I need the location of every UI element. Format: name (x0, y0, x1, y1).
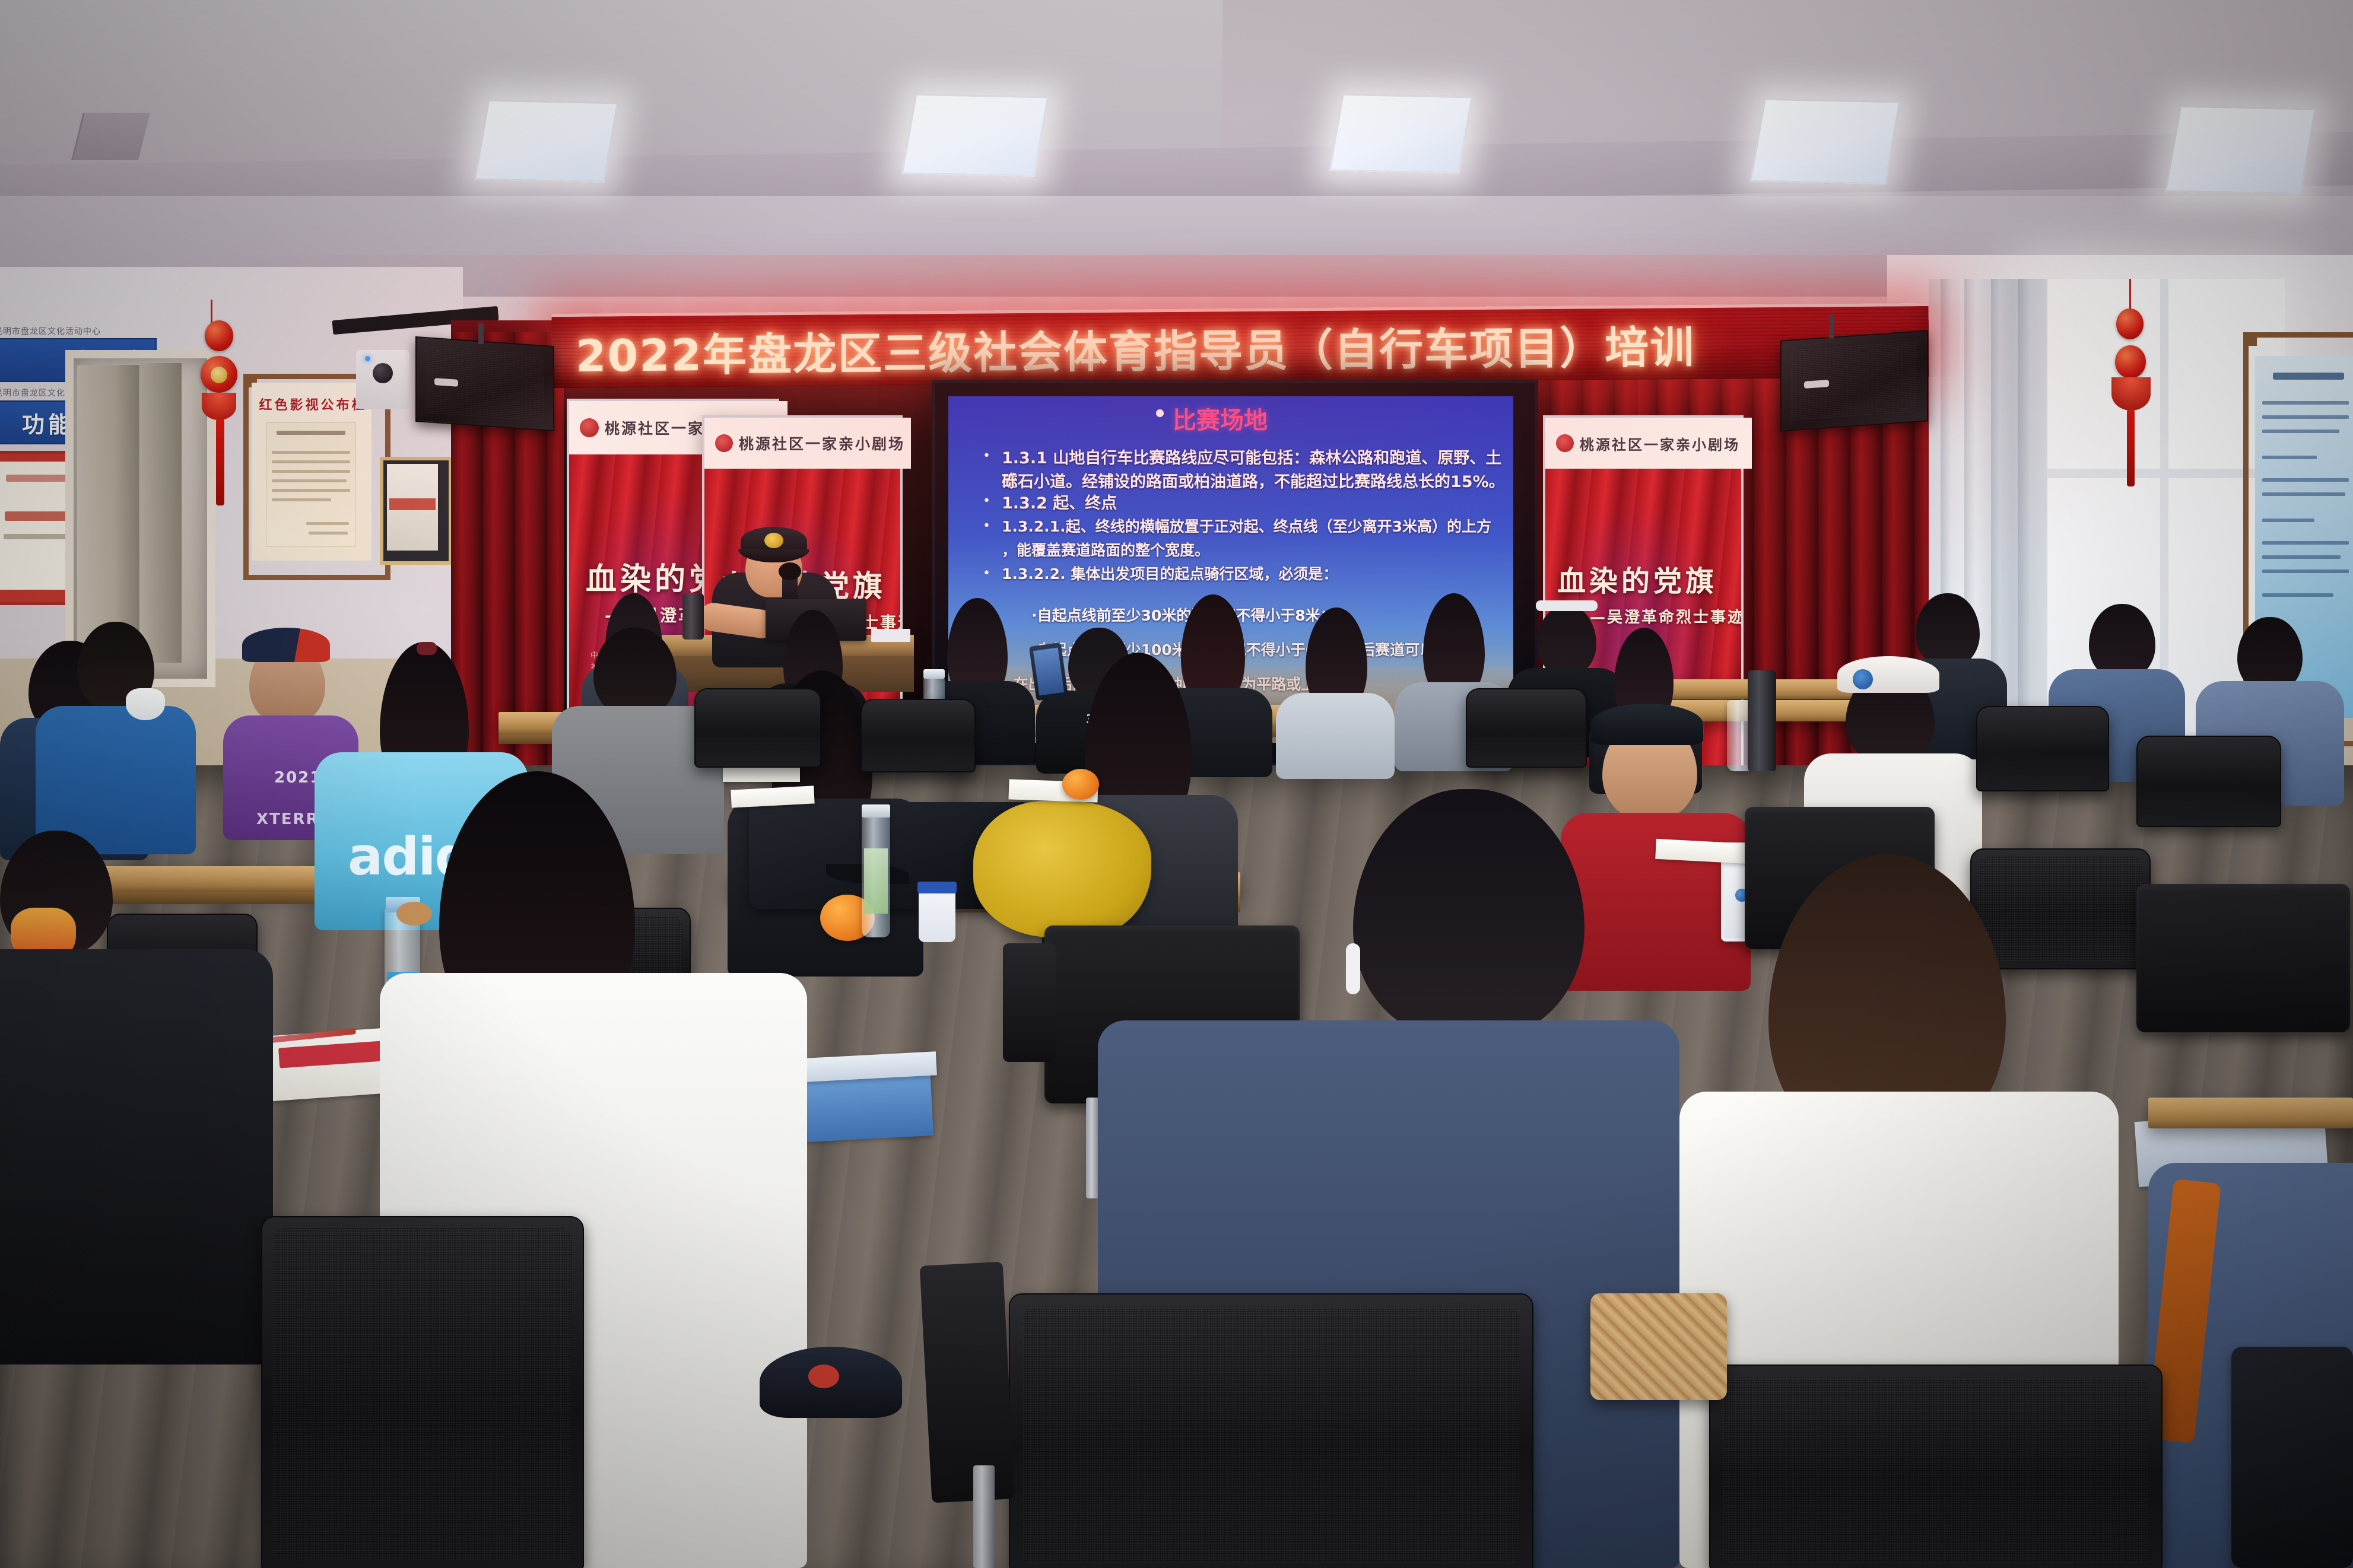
right-poster-line (2262, 519, 2314, 522)
rollup-logo-icon (1556, 434, 1574, 452)
attendee-head (2089, 604, 2155, 679)
ceiling-light-5 (2165, 106, 2317, 195)
slide-line-4: 1.3.2.1.起、终线的横幅放置于正对起、终点线（至少离开3米高）的上方 (1002, 515, 1491, 536)
attendee-white-cap-icon (1837, 656, 1939, 693)
slide-bullet-icon: • (983, 519, 990, 533)
ceiling-light-4 (1749, 98, 1901, 185)
slide-line-5: ，能覆盖赛道路面的整个宽度。 (1002, 539, 1209, 560)
slide-bullet-icon: • (983, 566, 990, 581)
rollup-banner-3-header-bar: 桃源社区一家亲小剧场 (1545, 418, 1752, 469)
left-poster-notice-heading (277, 431, 345, 435)
ceiling-light-1 (474, 100, 618, 183)
left-poster-title: 红色影视公布栏 (255, 395, 371, 414)
slide-title-bullet (1156, 409, 1164, 417)
slide-bullet-icon: • (983, 449, 990, 463)
right-poster-line (2262, 401, 2349, 405)
chair[interactable] (1976, 706, 2109, 791)
chair[interactable] (1466, 688, 1587, 768)
chair-foreground[interactable] (261, 1216, 584, 1568)
speaker-left-mount (478, 323, 484, 344)
bag-foreground (2231, 1347, 2353, 1568)
basket (1590, 1293, 1727, 1400)
left-poster-notice-line (272, 479, 347, 482)
led-banner-text: 2022年盘龙区三级社会体育指导员（自行车项目）培训 (552, 311, 1695, 384)
wall-camera-lens (373, 363, 393, 383)
ceiling-slot (71, 113, 150, 160)
slide-title: 比赛场地 (1173, 401, 1268, 435)
speaker-grill (1790, 341, 1917, 421)
rollup-banner-3-subtitle: ——吴澄革命烈士事迹传 (1573, 605, 1741, 627)
speaker-right (1780, 330, 1928, 431)
chair[interactable] (694, 688, 821, 768)
left-poster-notice-sign (306, 522, 349, 525)
chair-leather[interactable] (2136, 884, 2350, 1032)
left-poster-notice-line (272, 451, 350, 454)
training-room-sign-sub: 昆明市盘龙区文化活动中心 (0, 325, 131, 337)
left-poster-notice-date (309, 532, 348, 535)
right-poster-line (2262, 570, 2349, 573)
rollup-logo-icon (580, 418, 599, 437)
attendee-torso-foreground (0, 949, 273, 1365)
right-poster-line (2262, 478, 2349, 482)
table-foreground-right (2148, 1098, 2353, 1128)
window-knot-tassel (2127, 409, 2135, 486)
chair-mesh-back (1023, 1308, 1519, 1563)
chinese-knot-gold-center (211, 367, 227, 383)
right-poster-title (2273, 373, 2344, 380)
door-jamb (140, 363, 182, 663)
water-bottle-cap (862, 804, 890, 818)
attendee-head (1916, 593, 1980, 667)
chair-armrest[interactable] (920, 1262, 1015, 1503)
chair-post (973, 1465, 995, 1568)
chair-mesh-back (1979, 857, 2142, 961)
attendee-black-cap-icon (1590, 704, 1703, 745)
door-panel[interactable] (77, 365, 139, 661)
chair-mesh-back (1723, 1379, 2148, 1563)
chair-foreground[interactable] (1709, 1365, 2163, 1568)
chair-foreground[interactable] (1009, 1293, 1533, 1568)
chair[interactable] (1970, 848, 2151, 969)
rollup-banner-3-title: 血染的党旗 (1557, 558, 1717, 599)
right-poster-line (2262, 415, 2349, 419)
attendee-hair-tie-icon (396, 902, 432, 925)
water-bottle-cap (923, 669, 945, 679)
yellow-fleece-jacket (973, 801, 1151, 937)
right-poster-line (2262, 593, 2333, 597)
left-poster-notice-line (272, 460, 350, 463)
rollup-banner-2-header-bar: 桃源社区一家亲小剧场 (704, 418, 911, 469)
speaker-left (415, 336, 554, 431)
attendee-torso (1276, 693, 1395, 779)
chair-mesh-back (273, 1228, 572, 1560)
right-poster-line (2262, 541, 2349, 545)
attendee-head (593, 628, 677, 717)
window-knot-bow (2111, 377, 2151, 411)
slide-bullet-icon: • (983, 494, 990, 508)
rollup-banner-2-header: 桃源社区一家亲小剧场 (739, 432, 905, 454)
water-bottle-label (864, 848, 888, 914)
slide-line-3: 1.3.2 起、终点 (1002, 490, 1117, 513)
attendee-head (1537, 605, 1596, 675)
presenter-mic-head-icon (779, 562, 801, 580)
window-knot-top-icon (2116, 308, 2144, 339)
attendee-headband (1536, 600, 1598, 611)
slide-line-7: ·自起点线前至少30米的路面宽不得小于8米； (1031, 604, 1335, 625)
wall-camera-led (365, 356, 370, 361)
speaker-right-mount (1829, 314, 1834, 338)
right-poster-line (2262, 456, 2317, 459)
ceiling-light-3 (1329, 94, 1473, 174)
peeled-orange (1062, 769, 1099, 800)
chinese-knot-top-icon (205, 320, 233, 351)
right-poster-line (2262, 492, 2345, 496)
thermos-flask (1748, 670, 1776, 771)
left-poster-notice-line (272, 489, 350, 492)
attendee-face-mask (126, 688, 165, 720)
presenter-desk-papers (871, 629, 910, 642)
chair[interactable] (2136, 736, 2281, 827)
notebook (723, 766, 800, 782)
right-poster-line (2262, 555, 2341, 559)
chair-armrest[interactable] (1003, 943, 1056, 1062)
left-poster-notice-line (272, 498, 331, 501)
chinese-knot-tassel (216, 419, 224, 505)
attendee-ponytail-tie-icon (417, 642, 437, 655)
presenter-cap-logo-icon (764, 533, 783, 548)
slide-line-2: 砾石小道。经铺设的路面或柏油道路，不能超过比赛路线总长的15%。 (1002, 469, 1505, 492)
rollup-banner-3-header: 桃源社区一家亲小剧场 (1580, 433, 1740, 454)
chair[interactable] (860, 699, 976, 772)
ceiling-light-2 (901, 94, 1049, 177)
led-banner: 2022年盘龙区三级社会体育指导员（自行车项目）培训 (552, 303, 1929, 388)
chinese-knot-bow (202, 393, 236, 420)
yogurt-cup-lid (917, 882, 957, 893)
window-knot-lantern-icon (2115, 345, 2146, 379)
left-poster-notice (266, 422, 356, 547)
cap-on-table-logo-icon (808, 1365, 839, 1388)
photo-scene: 昆明市盘龙区文化活动中心 培训室 昆明市盘龙区文化活动中心 功能活动室 红色影视… (0, 0, 2353, 1568)
attendee-cap-icon (242, 628, 330, 662)
right-poster-line (2262, 430, 2339, 433)
rollup-logo-icon (715, 434, 733, 452)
attendee-cap-badge-icon (1853, 669, 1873, 689)
attendee-earphone-icon (1346, 943, 1360, 994)
left-poster-notice-line (272, 470, 350, 473)
wall-frame-small-title (389, 498, 436, 510)
slide-line-6: 1.3.2.2. 集体出发项目的起点骑行区域，必须是： (1002, 562, 1338, 584)
presenter-thermos (682, 593, 704, 640)
